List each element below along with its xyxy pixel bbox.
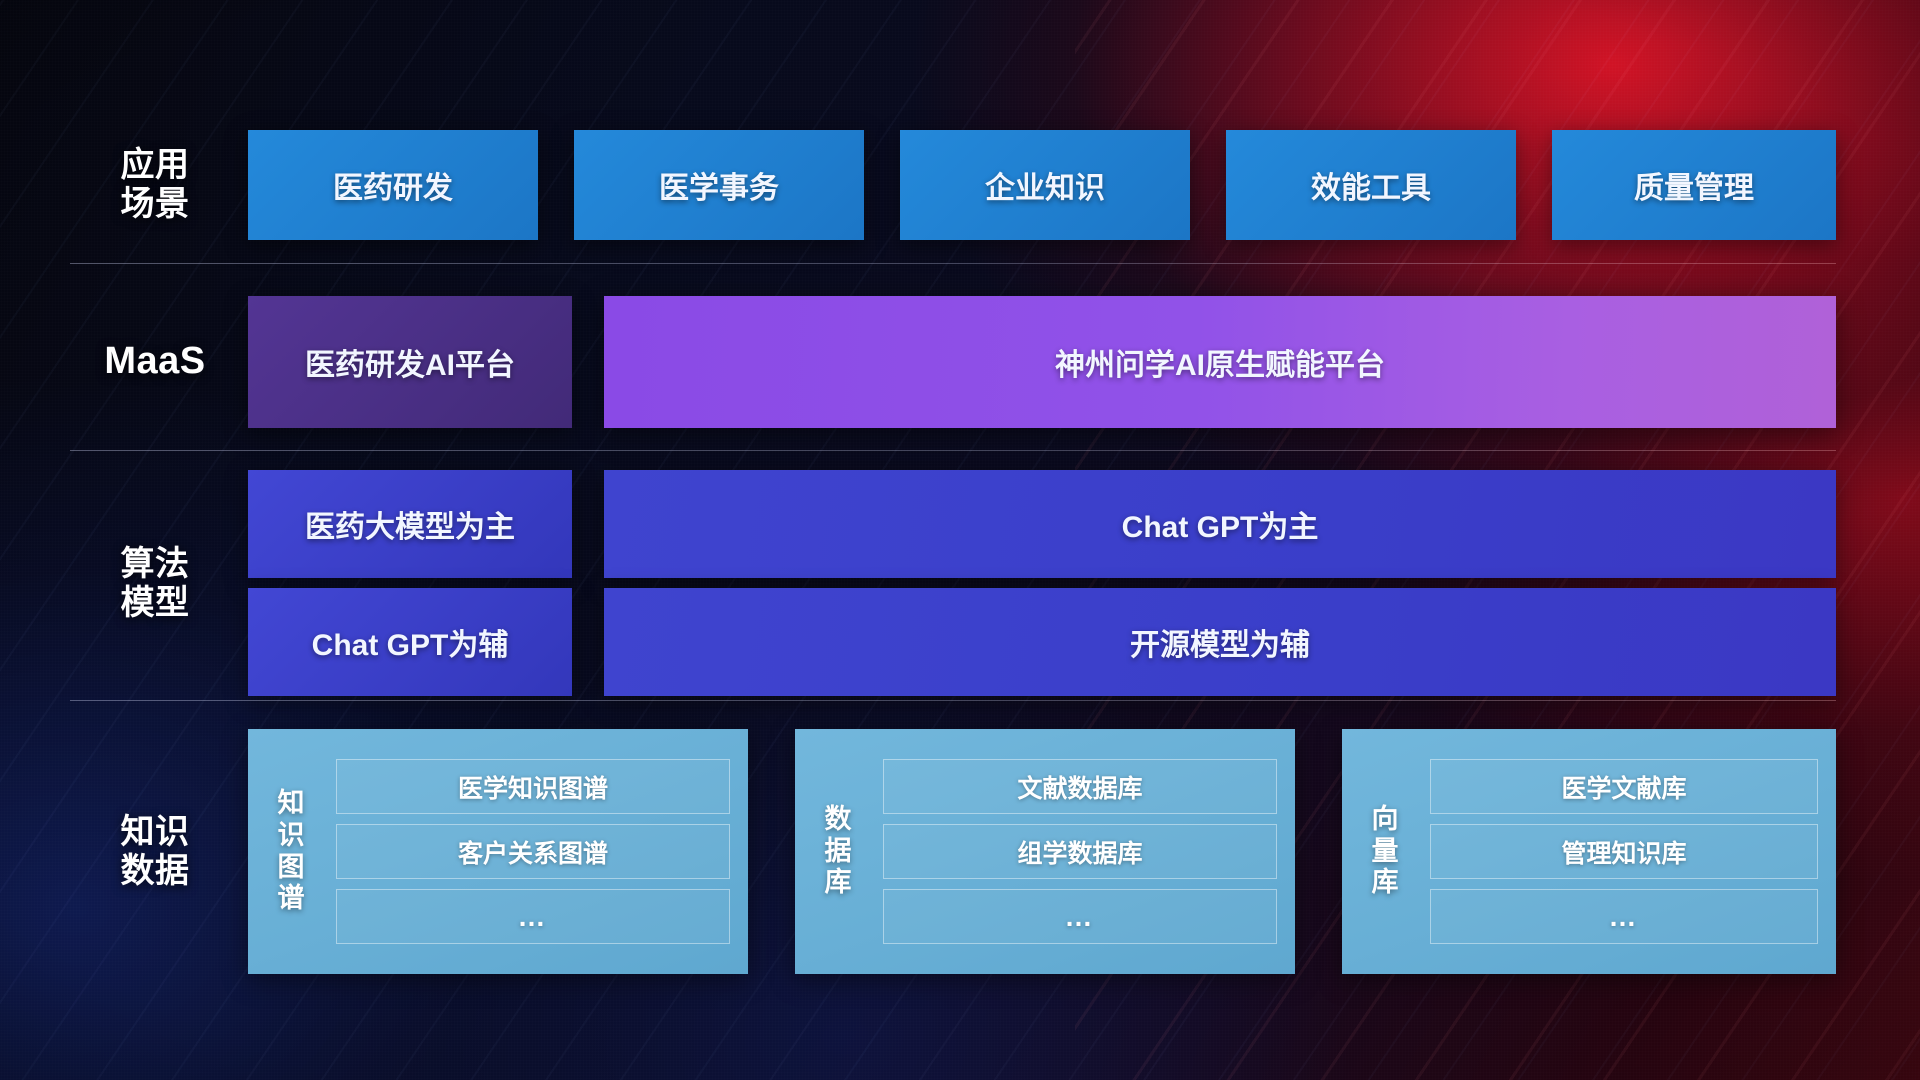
knowledge-item-more[interactable]: … bbox=[1430, 889, 1818, 944]
maas-platform-box-medical[interactable]: 医药研发AI平台 bbox=[248, 296, 572, 428]
tier-label-line: 应用 bbox=[70, 146, 240, 185]
knowledge-panel-title: 向 量 库 bbox=[1352, 804, 1418, 900]
knowledge-panel-title-char: 图 bbox=[278, 852, 305, 884]
tier-divider-2 bbox=[70, 450, 1836, 451]
algo-model-box-chatgpt-secondary[interactable]: Chat GPT为辅 bbox=[248, 588, 572, 696]
knowledge-panel-title: 数 据 库 bbox=[805, 804, 871, 900]
knowledge-panel-items: 医学知识图谱 客户关系图谱 … bbox=[324, 759, 734, 944]
knowledge-panel-title-char: 库 bbox=[1372, 867, 1399, 899]
knowledge-item[interactable]: 组学数据库 bbox=[883, 824, 1277, 879]
knowledge-panel-vector-database[interactable]: 向 量 库 医学文献库 管理知识库 … bbox=[1342, 729, 1836, 974]
algo-model-label: Chat GPT为辅 bbox=[312, 620, 509, 664]
tier-divider-1 bbox=[70, 263, 1836, 264]
maas-platform-label: 神州问学AI原生赋能平台 bbox=[1055, 340, 1385, 384]
tier-label-line: 算法 bbox=[70, 545, 240, 584]
knowledge-panel-title-char: 知 bbox=[278, 788, 305, 820]
app-scenario-label: 效能工具 bbox=[1311, 163, 1431, 207]
app-scenario-box-1[interactable]: 医药研发 bbox=[248, 130, 538, 240]
app-scenario-box-3[interactable]: 企业知识 bbox=[900, 130, 1190, 240]
algo-model-label: 开源模型为辅 bbox=[1130, 620, 1310, 664]
knowledge-panel-items: 文献数据库 组学数据库 … bbox=[871, 759, 1281, 944]
tier-label-algorithm-models: 算法 模型 bbox=[70, 470, 240, 698]
knowledge-item[interactable]: 客户关系图谱 bbox=[336, 824, 730, 879]
tier-label-line: 知识 bbox=[70, 813, 240, 852]
maas-platform-label: 医药研发AI平台 bbox=[305, 340, 515, 384]
tier-label-maas: MaaS bbox=[70, 296, 240, 428]
knowledge-panel-database[interactable]: 数 据 库 文献数据库 组学数据库 … bbox=[795, 729, 1295, 974]
algo-model-box-medical-primary[interactable]: 医药大模型为主 bbox=[248, 470, 572, 578]
knowledge-item[interactable]: 医学知识图谱 bbox=[336, 759, 730, 814]
knowledge-panel-title-char: 向 bbox=[1372, 804, 1399, 836]
knowledge-panel-title-char: 识 bbox=[278, 820, 305, 852]
knowledge-panel-items: 医学文献库 管理知识库 … bbox=[1418, 759, 1822, 944]
knowledge-item-more[interactable]: … bbox=[883, 889, 1277, 944]
knowledge-item[interactable]: 文献数据库 bbox=[883, 759, 1277, 814]
app-scenario-label: 医学事务 bbox=[659, 163, 779, 207]
tier-label-line: 场景 bbox=[70, 185, 240, 224]
app-scenario-box-4[interactable]: 效能工具 bbox=[1226, 130, 1516, 240]
algo-model-box-opensource-secondary[interactable]: 开源模型为辅 bbox=[604, 588, 1836, 696]
knowledge-panel-title-char: 据 bbox=[825, 836, 852, 868]
app-scenario-label: 质量管理 bbox=[1634, 163, 1754, 207]
maas-platform-box-shenzhou[interactable]: 神州问学AI原生赋能平台 bbox=[604, 296, 1836, 428]
knowledge-panel-knowledge-graph[interactable]: 知 识 图 谱 医学知识图谱 客户关系图谱 … bbox=[248, 729, 748, 974]
tier-label-line: 模型 bbox=[70, 584, 240, 623]
knowledge-panel-title: 知 识 图 谱 bbox=[258, 788, 324, 915]
app-scenario-box-2[interactable]: 医学事务 bbox=[574, 130, 864, 240]
knowledge-panel-title-char: 库 bbox=[825, 867, 852, 899]
knowledge-panel-title-char: 谱 bbox=[278, 883, 305, 915]
tier-label-knowledge-data: 知识 数据 bbox=[70, 729, 240, 974]
knowledge-item[interactable]: 管理知识库 bbox=[1430, 824, 1818, 879]
tier-label-application-scenarios: 应用 场景 bbox=[70, 128, 240, 242]
algo-model-label: 医药大模型为主 bbox=[305, 502, 515, 546]
algo-model-label: Chat GPT为主 bbox=[1122, 502, 1319, 546]
architecture-diagram: 应用 场景 医药研发 医学事务 企业知识 效能工具 质量管理 MaaS 医药研发… bbox=[0, 0, 1920, 1080]
app-scenario-label: 企业知识 bbox=[985, 163, 1105, 207]
app-scenario-box-5[interactable]: 质量管理 bbox=[1552, 130, 1836, 240]
knowledge-item[interactable]: 医学文献库 bbox=[1430, 759, 1818, 814]
knowledge-item-more[interactable]: … bbox=[336, 889, 730, 944]
app-scenario-label: 医药研发 bbox=[333, 163, 453, 207]
tier-label-line: 数据 bbox=[70, 852, 240, 891]
knowledge-panel-title-char: 数 bbox=[825, 804, 852, 836]
knowledge-panel-title-char: 量 bbox=[1372, 836, 1399, 868]
tier-label-line: MaaS bbox=[70, 340, 240, 383]
tier-divider-3 bbox=[70, 700, 1836, 701]
algo-model-box-chatgpt-primary[interactable]: Chat GPT为主 bbox=[604, 470, 1836, 578]
